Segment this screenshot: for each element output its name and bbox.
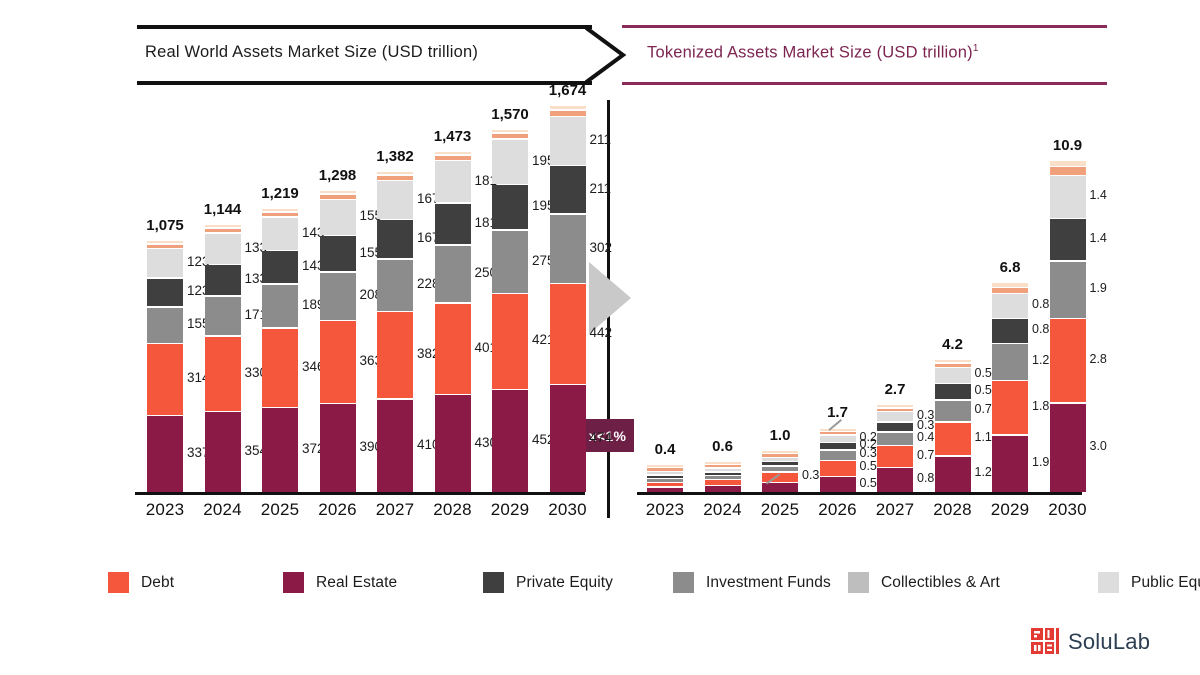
bar-segment-real-estate[interactable]	[550, 385, 586, 492]
bar-segment-debt[interactable]	[492, 294, 528, 389]
segment-value-label: 211	[590, 132, 612, 147]
bar-total-label-2026: 1.7	[827, 404, 848, 421]
bar-stack-2029[interactable]	[492, 130, 528, 492]
x-axis-label-2027: 2027	[876, 500, 915, 520]
bar-segment-investment-funds[interactable]	[320, 273, 356, 320]
segment-value-label: 0.2	[860, 430, 877, 444]
bar-stack-2025[interactable]	[262, 209, 298, 492]
legend-label: Private Equity	[516, 574, 613, 592]
bar-segment-commodities[interactable]	[550, 106, 586, 109]
legend-swatch-icon	[108, 572, 129, 593]
solulab-wordmark: SoluLab	[1068, 629, 1150, 655]
segment-value-label: 1.8	[1032, 399, 1049, 413]
bar-segment-private-equity[interactable]	[147, 279, 183, 307]
bar-segment-commodities[interactable]	[262, 209, 298, 211]
legend-item-private-equity[interactable]: Private Equity	[483, 572, 673, 593]
segment-value-label: 302	[590, 240, 613, 255]
bar-segment-debt[interactable]	[647, 483, 683, 486]
x-axis-label-2026: 2026	[318, 500, 357, 520]
bar-segment-commodities[interactable]	[877, 405, 913, 407]
bar-segment-public-equity[interactable]	[992, 294, 1028, 318]
bar-segment-commodities[interactable]	[935, 360, 971, 362]
bar-segment-infrastructure[interactable]	[820, 432, 856, 434]
legend-swatch-icon	[283, 572, 304, 593]
bar-segment-investment-funds[interactable]	[877, 433, 913, 445]
bar-segment-private-equity[interactable]	[877, 423, 913, 432]
legend-swatch-icon	[483, 572, 504, 593]
bar-segment-real-estate[interactable]	[647, 488, 683, 492]
bar-segment-private-equity[interactable]	[320, 236, 356, 271]
legend-label: Real Estate	[316, 574, 397, 592]
bar-segment-investment-funds[interactable]	[205, 297, 241, 335]
bar-segment-debt[interactable]	[550, 284, 586, 383]
bar-segment-public-equity[interactable]	[935, 368, 971, 383]
chart-tokenized-assets: 0.420230.620241.020250.31.720260.50.50.3…	[637, 140, 1082, 525]
bar-segment-investment-funds[interactable]	[262, 285, 298, 328]
bar-segment-infrastructure[interactable]	[762, 454, 798, 456]
bar-segment-real-estate[interactable]	[435, 395, 471, 492]
bar-stack-2026[interactable]	[320, 191, 356, 492]
bar-total-label-2024: 0.6	[712, 438, 733, 455]
bar-segment-private-equity[interactable]	[435, 204, 471, 245]
bar-total-label-2024: 1,144	[204, 201, 242, 218]
bar-stack-2030[interactable]	[550, 106, 586, 492]
bar-segment-real-estate[interactable]	[1050, 404, 1086, 493]
bar-segment-debt[interactable]	[877, 446, 913, 467]
segment-value-label: 474	[590, 430, 613, 445]
header-right-title: Tokenized Assets Market Size (USD trilli…	[647, 43, 979, 63]
bar-segment-debt[interactable]	[1050, 319, 1086, 402]
bar-segment-public-equity[interactable]	[705, 469, 741, 471]
bar-segment-private-equity[interactable]	[992, 319, 1028, 343]
bar-segment-investment-funds[interactable]	[992, 344, 1028, 379]
slide-canvas: Real World Assets Market Size (USD trill…	[0, 0, 1200, 675]
bar-segment-debt[interactable]	[705, 480, 741, 484]
bar-segment-private-equity[interactable]	[377, 220, 413, 258]
bar-total-label-2030: 10.9	[1053, 137, 1082, 154]
legend-item-collectibles-art[interactable]: Collectibles & Art	[848, 572, 1098, 593]
header-right-rule-bottom	[622, 82, 1107, 85]
bar-segment-infrastructure[interactable]	[262, 213, 298, 217]
bar-stack-2028[interactable]	[935, 360, 971, 492]
segment-value-label: 0.7	[917, 448, 934, 462]
bar-segment-real-estate[interactable]	[205, 412, 241, 492]
x-axis-label-2024: 2024	[203, 500, 242, 520]
legend-label: Public Equity	[1131, 574, 1200, 592]
x-axis-label-2030: 2030	[1048, 500, 1087, 520]
header-banner-left: Real World Assets Market Size (USD trill…	[137, 25, 627, 85]
legend-label: Collectibles & Art	[881, 574, 1000, 592]
bar-total-label-2028: 4.2	[942, 336, 963, 353]
x-axis-label-2028: 2028	[933, 500, 972, 520]
bar-segment-private-equity[interactable]	[705, 473, 741, 475]
bar-segment-investment-funds[interactable]	[820, 451, 856, 460]
bar-stack-2024[interactable]	[705, 462, 741, 492]
bar-segment-real-estate[interactable]	[820, 477, 856, 492]
bar-segment-debt[interactable]	[320, 321, 356, 403]
bar-segment-public-equity[interactable]	[647, 472, 683, 474]
x-axis-line	[637, 492, 1082, 495]
x-axis-label-2023: 2023	[146, 500, 185, 520]
segment-value-label: 442	[590, 325, 613, 340]
bar-segment-private-equity[interactable]	[762, 462, 798, 465]
bar-total-label-2023: 1,075	[146, 217, 184, 234]
bar-segment-commodities[interactable]	[435, 152, 471, 154]
x-axis-label-2024: 2024	[703, 500, 742, 520]
x-axis-label-2028: 2028	[433, 500, 472, 520]
bar-segment-real-estate[interactable]	[147, 416, 183, 492]
bar-segment-real-estate[interactable]	[705, 486, 741, 492]
bar-segment-debt[interactable]	[205, 337, 241, 411]
bar-total-label-2030: 1,674	[549, 82, 587, 99]
legend-swatch-icon	[848, 572, 869, 593]
bar-segment-infrastructure[interactable]	[550, 111, 586, 116]
bar-segment-private-equity[interactable]	[1050, 219, 1086, 260]
header-right-rule-top	[622, 25, 1107, 28]
header-right-title-text: Tokenized Assets Market Size (USD trilli…	[647, 44, 973, 62]
bar-segment-public-equity[interactable]	[492, 140, 528, 184]
bar-segment-public-equity[interactable]	[205, 234, 241, 264]
bar-segment-infrastructure[interactable]	[377, 176, 413, 180]
segment-value-label: 1.2	[975, 465, 992, 479]
x-axis-label-2030: 2030	[548, 500, 587, 520]
bar-segment-investment-funds[interactable]	[762, 467, 798, 471]
bar-segment-infrastructure[interactable]	[147, 245, 183, 248]
segment-value-label: 0.5	[975, 383, 992, 397]
segment-value-label: 0.8	[917, 471, 934, 485]
x-axis-line	[135, 492, 585, 495]
bar-segment-private-equity[interactable]	[820, 443, 856, 449]
bar-segment-public-equity[interactable]	[262, 218, 298, 250]
bar-segment-public-equity[interactable]	[550, 117, 586, 164]
chart-real-world-assets: 1,07520233373141551231231,14420243543301…	[135, 140, 585, 525]
chart-legend: DebtReal EstatePrivate EquityInvestment …	[108, 567, 1098, 598]
bar-total-label-2026: 1,298	[319, 167, 357, 184]
bar-segment-investment-funds[interactable]	[1050, 262, 1086, 318]
bar-segment-commodities[interactable]	[205, 225, 241, 227]
bar-segment-debt[interactable]	[435, 304, 471, 394]
bar-segment-real-estate[interactable]	[320, 404, 356, 492]
header-left-rule-top	[137, 25, 592, 29]
bar-total-label-2027: 2.7	[885, 381, 906, 398]
bar-segment-real-estate[interactable]	[762, 483, 798, 492]
bar-segment-private-equity[interactable]	[550, 166, 586, 213]
bar-segment-investment-funds[interactable]	[647, 479, 683, 481]
bar-segment-public-equity[interactable]	[762, 458, 798, 461]
header-left-chevron-icon	[585, 25, 627, 85]
bar-segment-infrastructure[interactable]	[877, 409, 913, 411]
bar-segment-private-equity[interactable]	[647, 476, 683, 478]
bar-segment-commodities[interactable]	[762, 451, 798, 453]
bar-segment-public-equity[interactable]	[377, 181, 413, 219]
header-left-rule-bottom	[137, 81, 592, 85]
segment-value-label: 1.4	[1090, 188, 1107, 202]
bar-segment-infrastructure[interactable]	[205, 229, 241, 232]
solulab-mark-icon	[1031, 628, 1059, 656]
bar-segment-infrastructure[interactable]	[320, 195, 356, 199]
bar-total-label-2028: 1,473	[434, 128, 472, 145]
bar-total-label-2023: 0.4	[655, 441, 676, 458]
bar-segment-debt[interactable]	[820, 461, 856, 476]
x-axis-label-2026: 2026	[818, 500, 857, 520]
bar-segment-commodities[interactable]	[320, 191, 356, 193]
bar-total-label-2029: 1,570	[491, 106, 529, 123]
bar-segment-infrastructure[interactable]	[647, 468, 683, 470]
legend-item-investment-funds[interactable]: Investment Funds	[673, 572, 848, 593]
bar-segment-real-estate[interactable]	[377, 400, 413, 492]
bar-segment-real-estate[interactable]	[492, 390, 528, 492]
header-right-footnote-marker: 1	[973, 43, 979, 54]
bar-segment-infrastructure[interactable]	[435, 156, 471, 160]
segment-value-label: 0.5	[975, 366, 992, 380]
segment-value-label: 0.7	[975, 402, 992, 416]
bar-segment-real-estate[interactable]	[935, 457, 971, 492]
legend-item-public-equity[interactable]: Public Equity	[1098, 572, 1200, 593]
segment-value-label: 1.2	[1032, 353, 1049, 367]
bar-segment-commodities[interactable]	[377, 172, 413, 174]
bar-total-label-2027: 1,382	[376, 148, 414, 165]
x-axis-label-2029: 2029	[991, 500, 1030, 520]
bar-segment-public-equity[interactable]	[820, 436, 856, 442]
header-left-title: Real World Assets Market Size (USD trill…	[145, 43, 478, 62]
bar-stack-2027[interactable]	[877, 405, 913, 492]
bar-segment-debt[interactable]	[935, 423, 971, 455]
bar-segment-investment-funds[interactable]	[377, 260, 413, 311]
segment-value-label: 2.8	[1090, 352, 1107, 366]
bar-segment-commodities[interactable]	[705, 462, 741, 464]
bar-segment-real-estate[interactable]	[262, 408, 298, 492]
segment-value-label: 1.4	[1090, 231, 1107, 245]
bar-stack-2025[interactable]	[762, 451, 798, 492]
bar-stack-2027[interactable]	[377, 172, 413, 492]
bar-segment-debt[interactable]	[262, 329, 298, 407]
bar-segment-debt[interactable]	[377, 312, 413, 398]
bar-total-label-2025: 1,219	[261, 185, 299, 202]
segment-value-label: 0.8	[1032, 297, 1049, 311]
legend-label: Debt	[141, 574, 174, 592]
segment-value-label: 0.3	[917, 408, 934, 422]
bar-total-label-2029: 6.8	[1000, 259, 1021, 276]
legend-item-debt[interactable]: Debt	[108, 572, 283, 593]
bar-segment-investment-funds[interactable]	[492, 231, 528, 293]
bar-segment-commodities[interactable]	[1050, 161, 1086, 166]
bar-segment-infrastructure[interactable]	[935, 364, 971, 367]
segment-value-label: 0.5	[860, 476, 877, 490]
bar-stack-2029[interactable]	[992, 283, 1028, 492]
bar-segment-investment-funds[interactable]	[147, 308, 183, 343]
bar-segment-infrastructure[interactable]	[992, 288, 1028, 293]
bar-segment-investment-funds[interactable]	[705, 476, 741, 478]
bar-segment-commodities[interactable]	[492, 130, 528, 133]
bar-segment-public-equity[interactable]	[1050, 176, 1086, 217]
bar-segment-commodities[interactable]	[992, 283, 1028, 286]
segment-value-label: 1.9	[1090, 281, 1107, 295]
bar-segment-commodities[interactable]	[820, 429, 856, 431]
bar-segment-infrastructure[interactable]	[492, 134, 528, 139]
legend-swatch-icon	[1098, 572, 1119, 593]
segment-value-label: 0.3	[802, 468, 819, 482]
bar-segment-debt[interactable]	[147, 344, 183, 415]
legend-swatch-icon	[673, 572, 694, 593]
segment-value-label: 0.8	[1032, 322, 1049, 336]
bar-stack-2028[interactable]	[435, 152, 471, 492]
bar-segment-real-estate[interactable]	[877, 468, 913, 492]
x-axis-label-2027: 2027	[376, 500, 415, 520]
x-axis-label-2025: 2025	[261, 500, 300, 520]
bar-segment-private-equity[interactable]	[262, 251, 298, 283]
segment-value-label: 1.1	[975, 430, 992, 444]
x-axis-label-2029: 2029	[491, 500, 530, 520]
segment-value-label: 0.5	[860, 459, 877, 473]
bar-segment-infrastructure[interactable]	[1050, 167, 1086, 174]
header-banner-right: Tokenized Assets Market Size (USD trilli…	[622, 25, 1107, 85]
bar-segment-debt[interactable]	[992, 381, 1028, 434]
bar-segment-public-equity[interactable]	[877, 412, 913, 421]
bar-total-label-2025: 1.0	[770, 427, 791, 444]
bar-segment-commodities[interactable]	[147, 241, 183, 243]
bar-segment-infrastructure[interactable]	[705, 465, 741, 467]
segment-value-label: 3.0	[1090, 439, 1107, 453]
bar-stack-2023[interactable]	[147, 241, 183, 492]
bar-segment-investment-funds[interactable]	[550, 215, 586, 283]
bar-stack-2024[interactable]	[205, 225, 241, 492]
x-axis-label-2023: 2023	[646, 500, 685, 520]
bar-stack-2030[interactable]	[1050, 161, 1086, 492]
bar-segment-private-equity[interactable]	[205, 265, 241, 295]
bar-segment-public-equity[interactable]	[435, 161, 471, 202]
bar-segment-public-equity[interactable]	[320, 200, 356, 235]
transition-arrow-icon	[589, 262, 631, 334]
bar-segment-public-equity[interactable]	[147, 249, 183, 277]
legend-item-real-estate[interactable]: Real Estate	[283, 572, 483, 593]
solulab-logo: SoluLab	[1031, 628, 1150, 656]
bar-segment-investment-funds[interactable]	[935, 401, 971, 422]
bar-segment-commodities[interactable]	[647, 465, 683, 467]
bar-segment-private-equity[interactable]	[492, 185, 528, 229]
segment-value-label: 211	[590, 181, 612, 196]
bar-segment-real-estate[interactable]	[992, 436, 1028, 492]
bar-segment-investment-funds[interactable]	[435, 246, 471, 302]
bar-stack-2026[interactable]	[820, 429, 856, 493]
x-axis-label-2025: 2025	[761, 500, 800, 520]
bar-stack-2023[interactable]	[647, 465, 683, 492]
segment-value-label: 1.9	[1032, 455, 1049, 469]
bar-segment-private-equity[interactable]	[935, 384, 971, 399]
legend-label: Investment Funds	[706, 574, 831, 592]
